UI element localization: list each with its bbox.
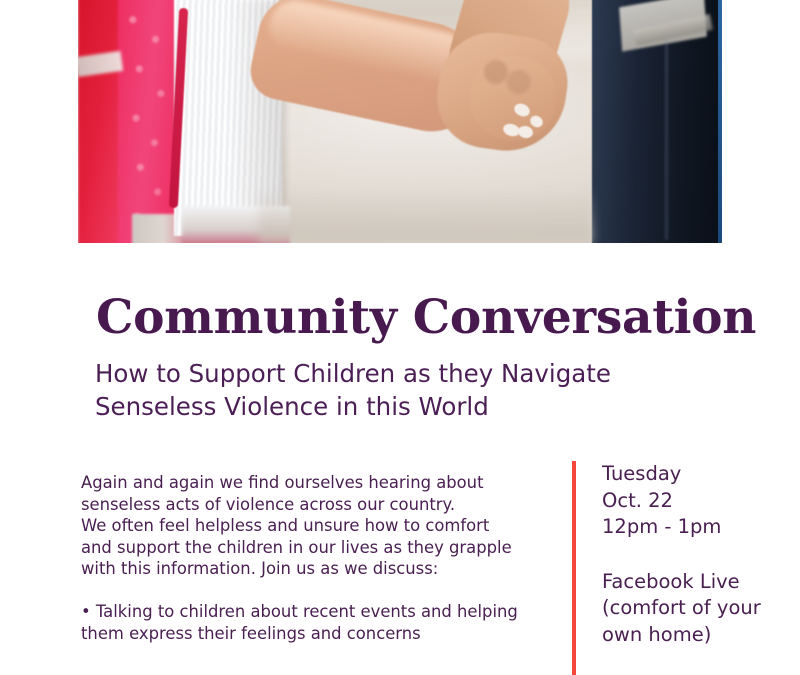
backpack-pattern bbox=[122, 0, 176, 243]
bullet-item: • Talking to children about recent event… bbox=[81, 601, 551, 644]
event-date: Oct. 22 bbox=[602, 488, 761, 515]
event-platform: Facebook Live bbox=[602, 569, 761, 596]
event-time: 12pm - 1pm bbox=[602, 514, 761, 541]
event-day: Tuesday bbox=[602, 461, 761, 488]
event-schedule: Tuesday Oct. 22 12pm - 1pm bbox=[602, 461, 761, 541]
page-title: Community Conversation bbox=[96, 293, 756, 343]
bullet-line-1: • Talking to children about recent event… bbox=[81, 601, 551, 623]
intro-line-1: Again and again we find ourselves hearin… bbox=[81, 472, 551, 494]
photo-right-edge bbox=[718, 0, 722, 243]
event-venue-note-1: (comfort of your bbox=[602, 595, 761, 622]
poster-page: Community Conversation How to Support Ch… bbox=[0, 0, 800, 675]
intro-line-5: with this information. Join us as we dis… bbox=[81, 558, 551, 580]
intro-line-4: and support the children in our lives as… bbox=[81, 537, 551, 559]
page-subtitle: How to Support Children as they Navigate… bbox=[95, 358, 675, 423]
hero-photo bbox=[78, 0, 722, 243]
event-details-column: Tuesday Oct. 22 12pm - 1pm Facebook Live… bbox=[572, 461, 761, 675]
intro-paragraph: Again and again we find ourselves hearin… bbox=[81, 472, 551, 580]
body-column: Again and again we find ourselves hearin… bbox=[81, 472, 551, 644]
subtitle-line-2: Senseless Violence in this World bbox=[95, 391, 675, 423]
intro-line-3: We often feel helpless and unsure how to… bbox=[81, 515, 551, 537]
event-venue-note-2: own home) bbox=[602, 622, 761, 649]
intro-line-2: senseless acts of violence across our co… bbox=[81, 494, 551, 516]
event-venue: Facebook Live (comfort of your own home) bbox=[602, 569, 761, 649]
subtitle-line-1: How to Support Children as they Navigate bbox=[95, 358, 675, 390]
jeans-seam bbox=[665, 40, 668, 240]
bullet-line-2: them express their feelings and concerns bbox=[81, 623, 551, 645]
blurred-ground bbox=[258, 187, 592, 243]
